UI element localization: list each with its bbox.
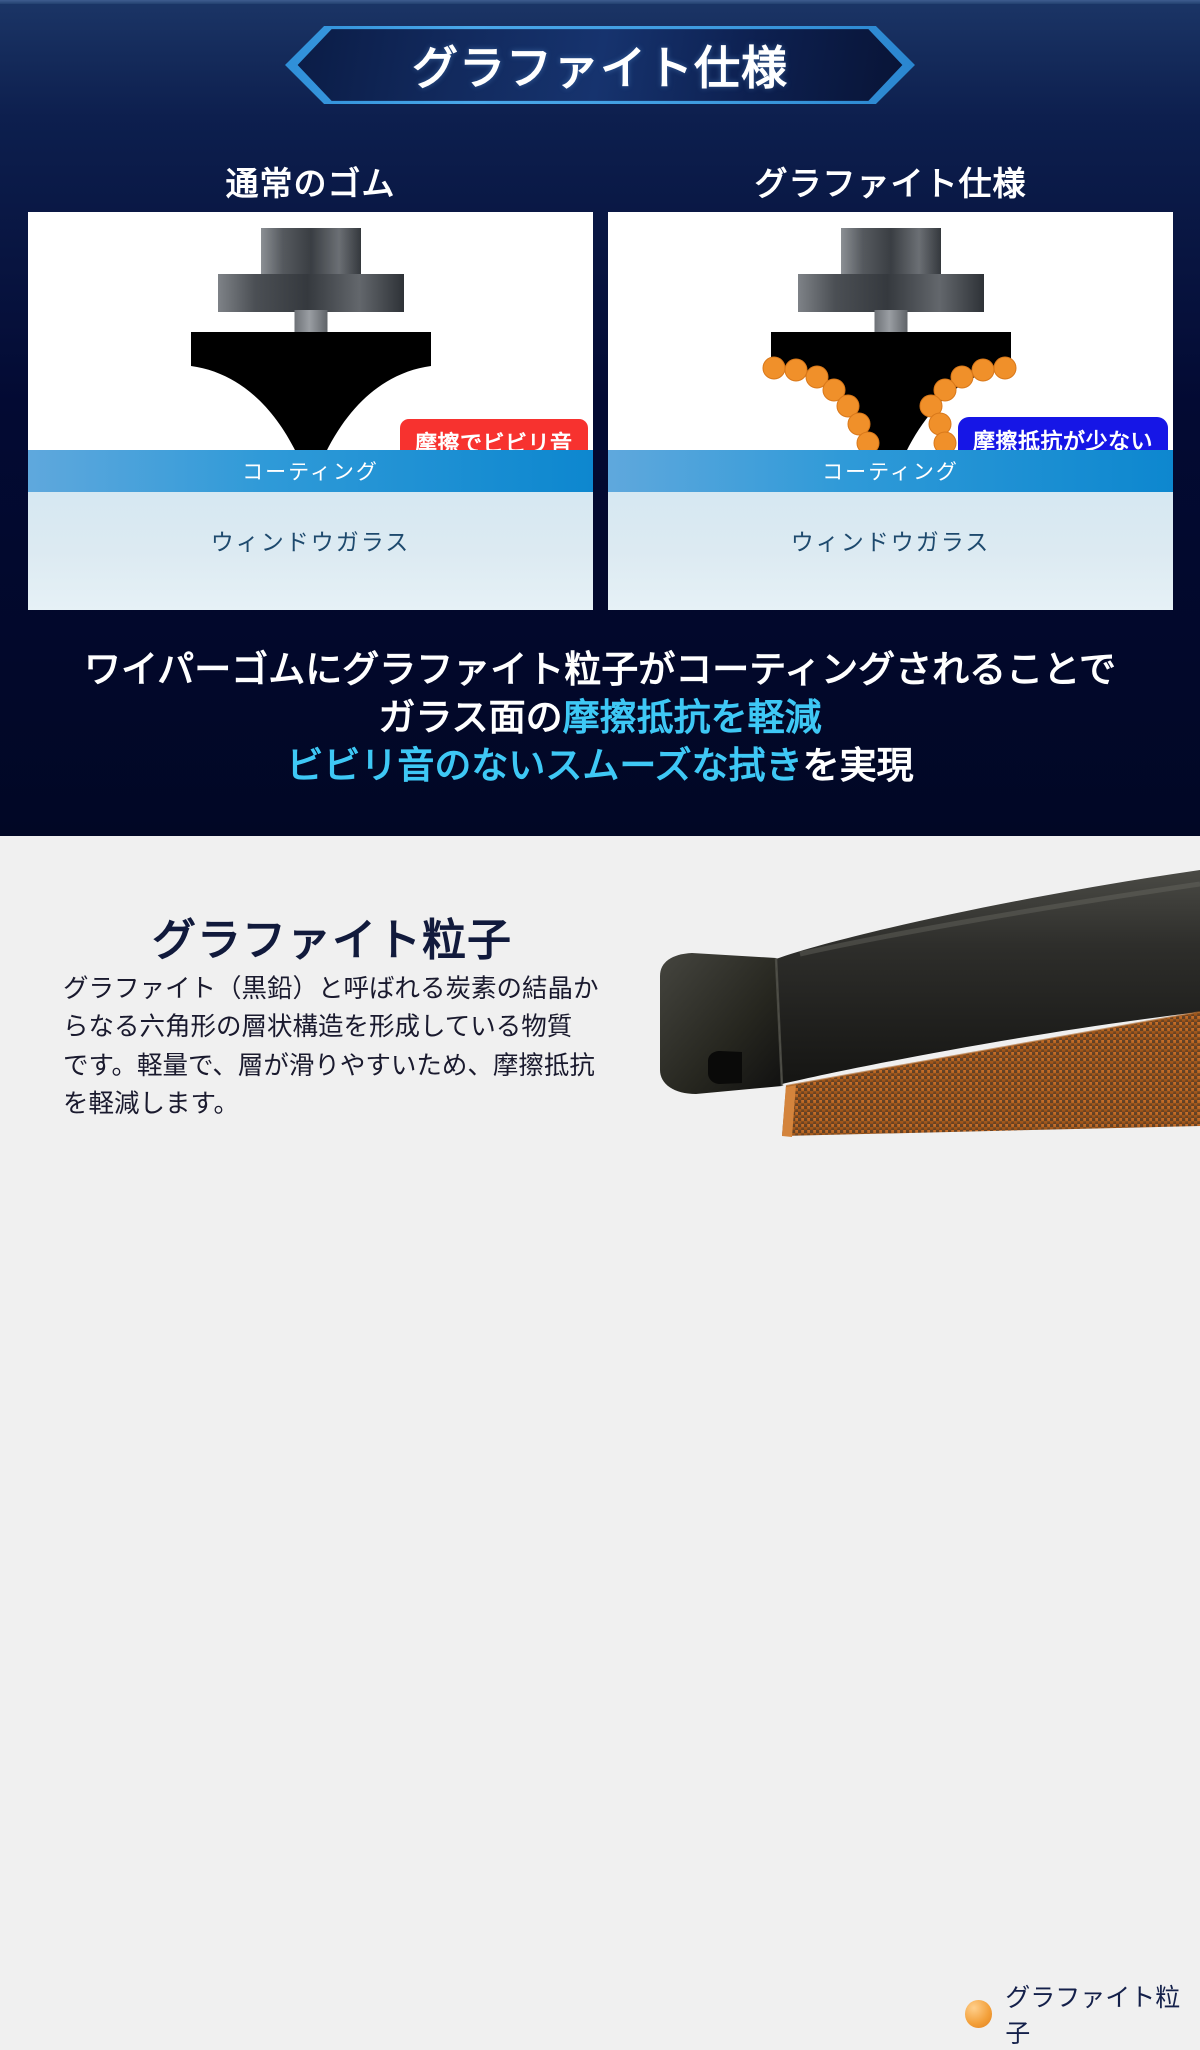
banner-title-text: グラファイト仕様 — [285, 26, 915, 104]
summary-line-3-highlight-1: ビビリ音のない — [286, 745, 545, 786]
glass-layer-normal: ウィンドウガラス — [28, 492, 593, 610]
summary-line-3-highlight-2: スムーズな拭き — [545, 745, 802, 786]
title-banner: グラファイト仕様 — [285, 26, 915, 104]
summary-line-1: ワイパーゴムにグラファイト粒子がコーティングされることで — [0, 646, 1200, 694]
legend-graphite-label: グラファイト粒子 — [1005, 1978, 1200, 2050]
glass-layer-graphite: ウィンドウガラス — [608, 492, 1173, 610]
diagram-normal-rubber: 摩擦でビビリ音 摩擦抵抗が大きい — [28, 212, 593, 610]
wiper-blade-illustration — [600, 836, 1200, 1200]
summary-line-2: ガラス面の摩擦抵抗を軽減 — [0, 694, 1200, 742]
panel-title-normal: 通常のゴム — [28, 150, 593, 212]
panel-normal-rubber: 通常のゴム 摩擦でビビリ音 — [28, 150, 593, 620]
top-section: グラファイト仕様 通常のゴム 摩擦でビビリ音 — [0, 0, 1200, 836]
bottom-heading: グラファイト粒子 — [152, 904, 512, 968]
summary-line-3: ビビリ音のないスムーズな拭きを実現 — [0, 742, 1200, 790]
infographic-page: グラファイト仕様 通常のゴム 摩擦でビビリ音 — [0, 0, 1200, 1200]
panel-title-graphite: グラファイト仕様 — [608, 150, 1173, 212]
summary-line-2-prefix: ガラス面の — [378, 697, 562, 738]
coating-layer-normal: コーティング — [28, 450, 593, 492]
bottom-body-line-3: です。軽量で、層が滑りやすいため、摩擦抵抗 — [63, 1047, 629, 1085]
diagram-graphite: 摩擦抵抗が少ない グラファイト粒子 スムーズな動き コーティング ウィンドウガラ… — [608, 212, 1173, 610]
photo-legend: グラファイト粒子 — [965, 1978, 1200, 2050]
bottom-body-line-1: グラファイト（黒鉛）と呼ばれる炭素の結晶か — [63, 970, 629, 1008]
summary-text-block: ワイパーゴムにグラファイト粒子がコーティングされることで ガラス面の摩擦抵抗を軽… — [0, 646, 1200, 790]
bottom-body-line-4: を軽減します。 — [63, 1085, 629, 1123]
top-hairline — [0, 0, 1200, 4]
legend-graphite-dot-icon — [965, 2000, 992, 2028]
bottom-section: グラファイト粒子 グラファイト（黒鉛）と呼ばれる炭素の結晶か らなる六角形の層状… — [0, 836, 1200, 1200]
bottom-body-text: グラファイト（黒鉛）と呼ばれる炭素の結晶か らなる六角形の層状構造を形成している… — [63, 970, 629, 1123]
panel-graphite-spec: グラファイト仕様 — [608, 150, 1173, 620]
coating-layer-graphite: コーティング — [608, 450, 1173, 492]
summary-line-3-suffix: を実現 — [803, 745, 914, 786]
summary-line-2-highlight: 摩擦抵抗を軽減 — [563, 697, 822, 738]
bottom-body-line-2: らなる六角形の層状構造を形成している物質 — [63, 1008, 629, 1046]
wiper-blade-photo — [600, 836, 1200, 1200]
